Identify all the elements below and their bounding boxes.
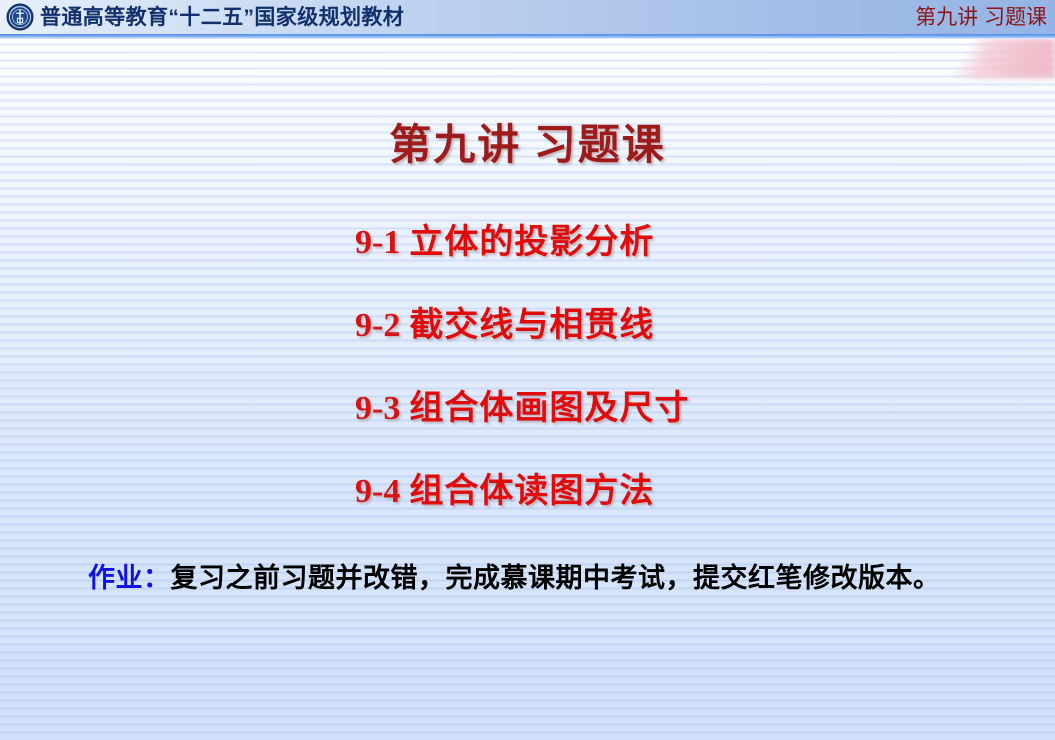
homework-note: 作业：复习之前习题并改错，完成慕课期中考试，提交红笔修改版本。: [88, 559, 1018, 597]
toc-item-9-2[interactable]: 9-2截交线与相贯线: [355, 304, 995, 387]
toc-item-label: 立体的投影分析: [409, 224, 654, 261]
header-chapter-label: 第九讲 习题课: [915, 2, 1047, 33]
toc-item-number: 9-3: [355, 390, 409, 427]
homework-text: 复习之前习题并改错，完成慕课期中考试，提交红笔修改版本。: [171, 563, 941, 593]
header-bar: 普通高等教育“十二五”国家级规划教材 第九讲 习题课: [0, 0, 1055, 34]
toc-item-label: 组合体读图方法: [409, 473, 654, 510]
university-seal-icon: [6, 3, 34, 31]
header-accent-line: [0, 34, 1055, 39]
toc-item-number: 9-2: [355, 307, 409, 344]
slide-canvas: 普通高等教育“十二五”国家级规划教材 第九讲 习题课 第九讲 习题课 9-1立体…: [0, 0, 1055, 740]
toc-item-label: 组合体画图及尺寸: [409, 390, 689, 427]
header-title: 普通高等教育“十二五”国家级规划教材: [40, 2, 404, 33]
table-of-contents: 9-1立体的投影分析 9-2截交线与相贯线 9-3组合体画图及尺寸 9-4组合体…: [355, 221, 995, 553]
toc-item-number: 9-1: [355, 224, 409, 261]
slide-content: 第九讲 习题课 9-1立体的投影分析 9-2截交线与相贯线 9-3组合体画图及尺…: [0, 39, 1055, 740]
toc-item-9-4[interactable]: 9-4组合体读图方法: [355, 470, 995, 553]
decorative-pink-shape: [943, 38, 1055, 78]
toc-item-number: 9-4: [355, 473, 409, 510]
toc-item-9-1[interactable]: 9-1立体的投影分析: [355, 221, 995, 304]
page-title: 第九讲 习题课: [0, 111, 1055, 172]
toc-item-label: 截交线与相贯线: [409, 307, 654, 344]
homework-label: 作业：: [88, 563, 171, 593]
toc-item-9-3[interactable]: 9-3组合体画图及尺寸: [355, 387, 995, 470]
